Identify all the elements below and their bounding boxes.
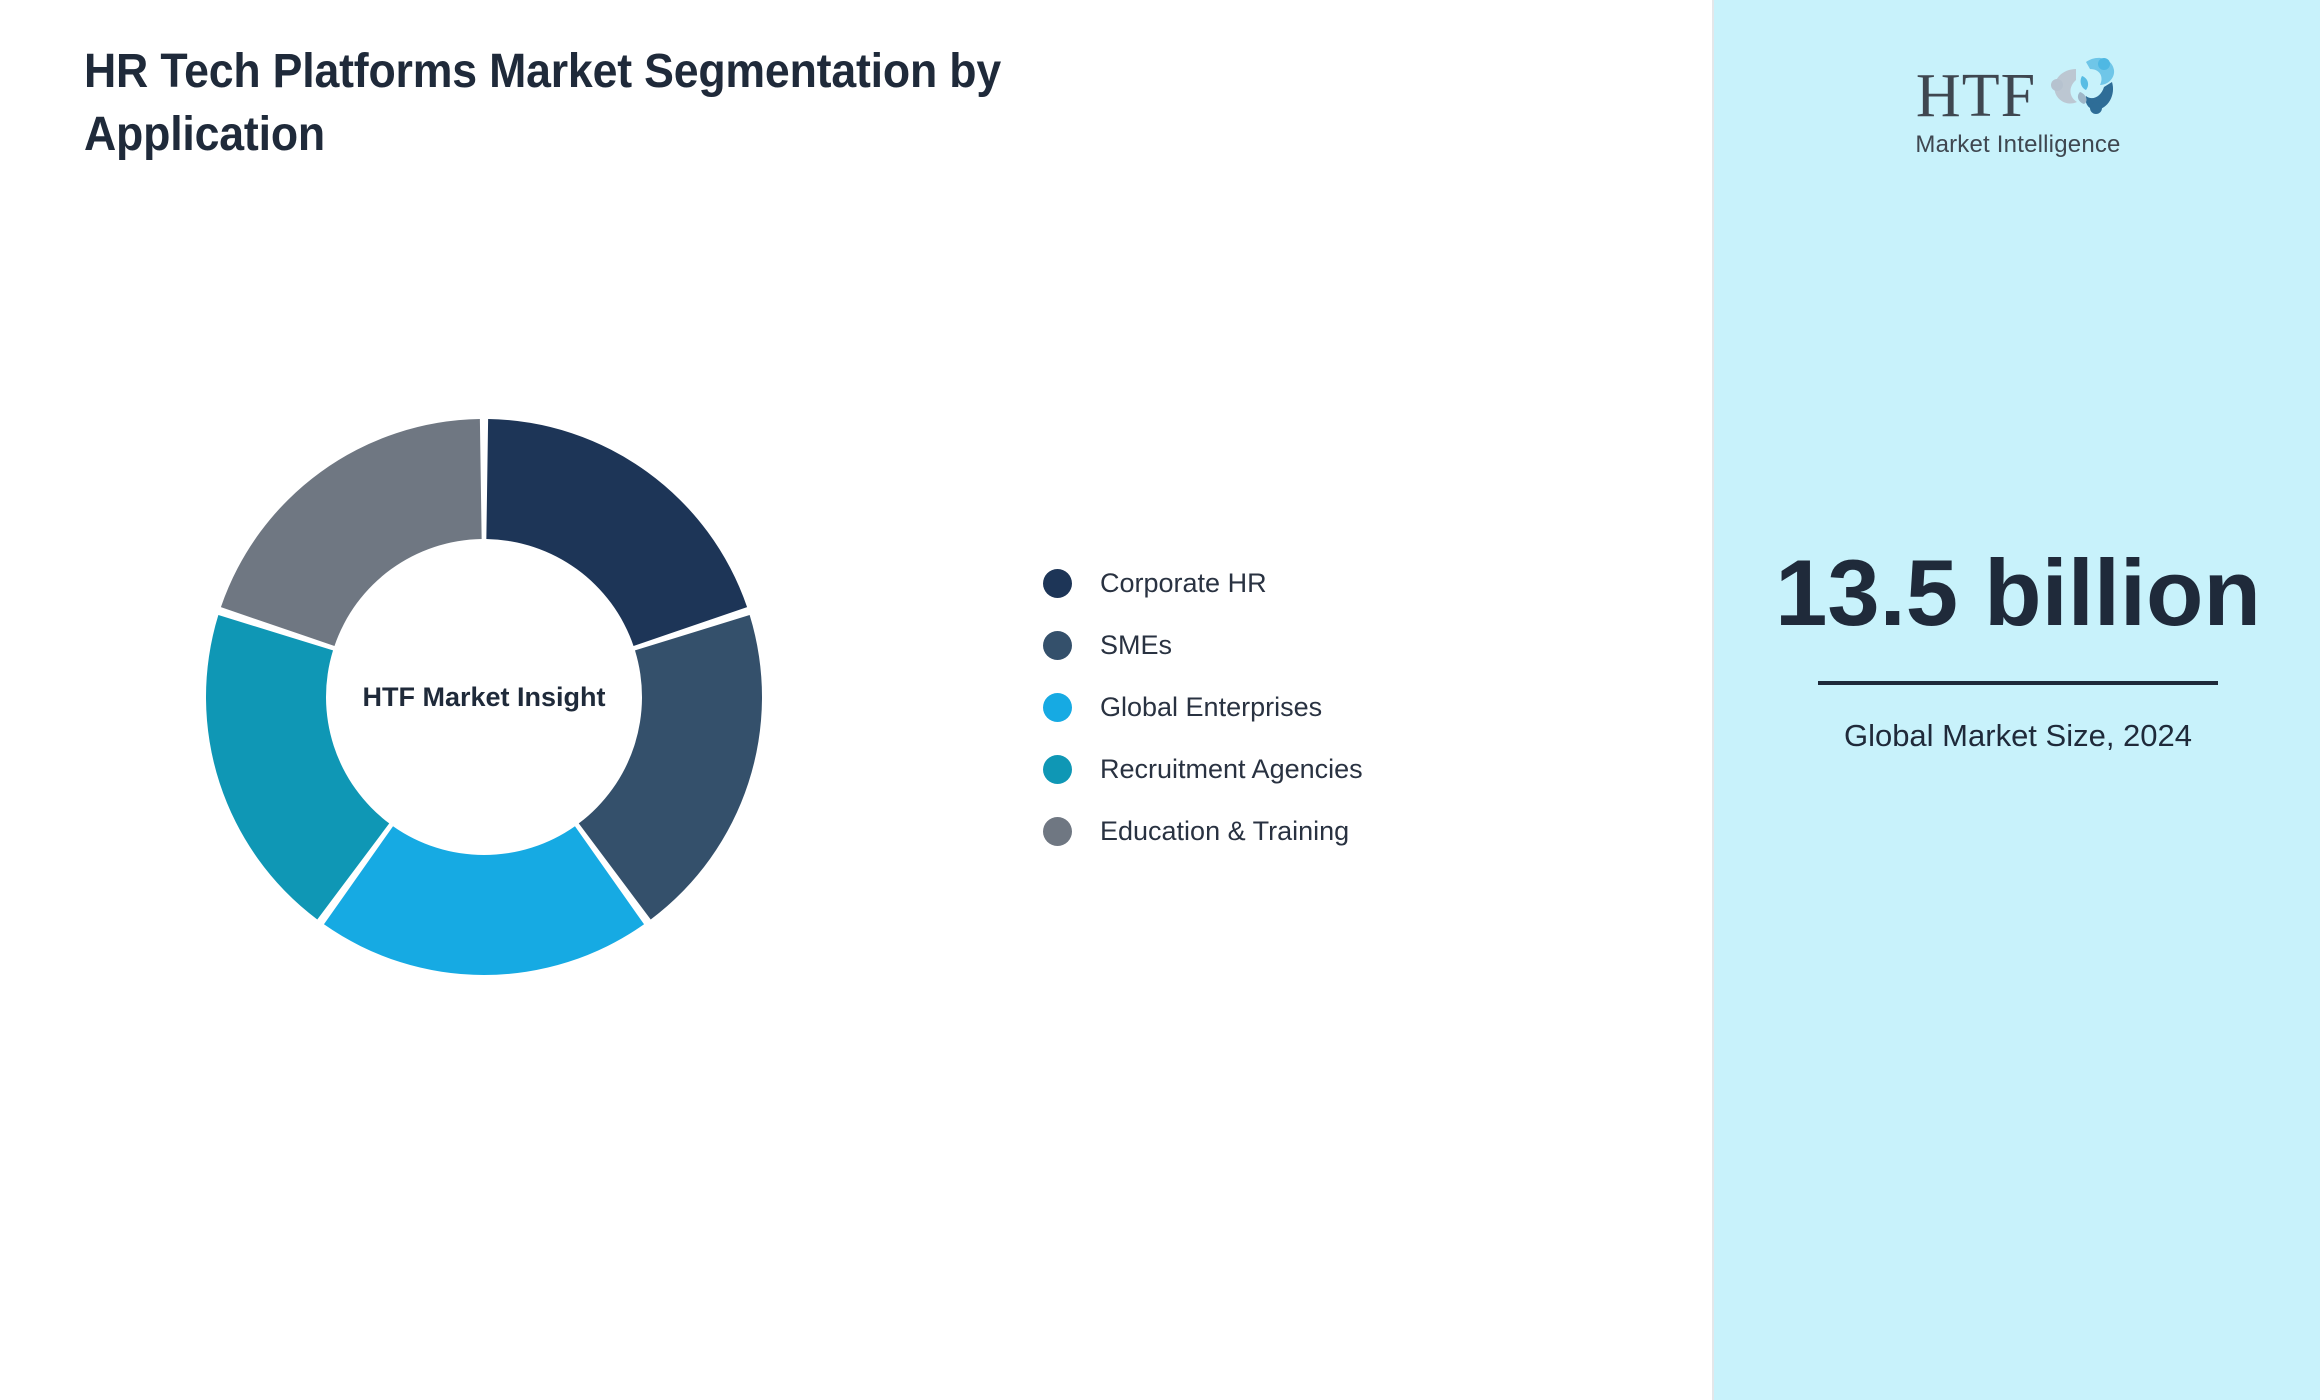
page-title: HR Tech Platforms Market Segmentation by… [84,40,1107,167]
logo-wordmark: HTF [1916,69,2036,125]
legend-item-label: SMEs [1100,630,1172,661]
legend-swatch-icon [1043,755,1072,784]
infographic-canvas: HR Tech Platforms Market Segmentation by… [0,0,2320,1400]
donut-slice-group [206,419,762,975]
legend-swatch-icon [1043,693,1072,722]
right-sidebar-panel: HTF [1712,0,2320,1400]
logo-tagline: Market Intelligence [1915,131,2120,159]
legend-item-label: Global Enterprises [1100,692,1322,723]
legend-item[interactable]: Education & Training [1043,800,1363,862]
stat-divider [1818,681,2218,685]
legend-item-label: Recruitment Agencies [1100,754,1363,785]
legend-item[interactable]: Recruitment Agencies [1043,738,1363,800]
stat-caption: Global Market Size, 2024 [1714,715,2320,757]
legend-item-label: Corporate HR [1100,568,1267,599]
stat-value: 13.5 billion [1714,540,2320,645]
legend-swatch-icon [1043,631,1072,660]
legend-item[interactable]: SMEs [1043,614,1363,676]
chart-legend: Corporate HRSMEsGlobal EnterprisesRecrui… [1043,552,1363,862]
legend-item[interactable]: Global Enterprises [1043,676,1363,738]
legend-swatch-icon [1043,569,1072,598]
donut-chart-svg [186,399,782,995]
logo-top-row: HTF [1916,52,2120,125]
donut-slice[interactable] [324,826,644,975]
legend-swatch-icon [1043,817,1072,846]
donut-slice[interactable] [221,419,482,646]
brand-logo: HTF [1714,52,2320,159]
three-figures-circle-icon [2042,52,2120,123]
stat-block: 13.5 billion Global Market Size, 2024 [1714,540,2320,757]
donut-slice[interactable] [486,419,747,646]
legend-item-label: Education & Training [1100,816,1349,847]
legend-item[interactable]: Corporate HR [1043,552,1363,614]
donut-chart: HTF Market Insight [186,399,782,995]
left-content-panel: HR Tech Platforms Market Segmentation by… [0,0,1712,1400]
